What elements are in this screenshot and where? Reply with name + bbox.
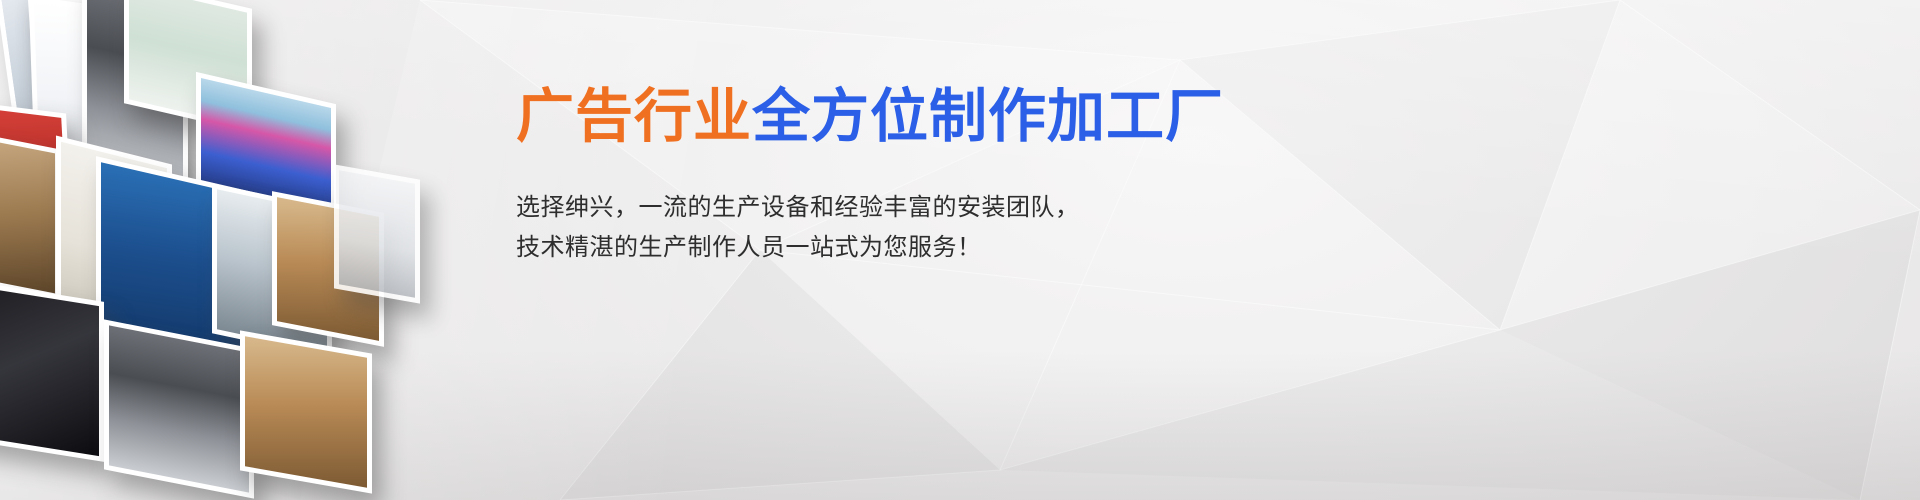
collage-photo [245,336,367,488]
collage-card-lightbox [334,164,420,303]
headline: 广告行业全方位制作加工厂 [516,86,1496,147]
promo-banner: 广告行业全方位制作加工厂 选择绅兴，一流的生产设备和经验丰富的安装团队， 技术精… [0,0,1920,500]
collage-photo [0,284,99,456]
collage-card-wood-panel [0,131,60,300]
collage-card-shop-sign-2 [104,319,254,498]
collage-photo [339,170,415,297]
collage-card-iphone-display [0,278,104,462]
subtitle-line-2: 技术精湛的生产制作人员一站式为您服务！ [516,227,1496,267]
collage-card-lightbox-2 [240,330,372,493]
photo-collage [0,0,444,500]
headline-blue-text: 全方位制作加工厂 [752,82,1224,150]
subtitle-block: 选择绅兴，一流的生产设备和经验丰富的安装团队， 技术精湛的生产制作人员一站式为您… [516,187,1496,267]
collage-photo [0,137,55,294]
collage-photo [109,325,249,492]
subtitle-line-1: 选择绅兴，一流的生产设备和经验丰富的安装团队， [516,187,1496,227]
banner-copy: 广告行业全方位制作加工厂 选择绅兴，一流的生产设备和经验丰富的安装团队， 技术精… [516,86,1496,267]
headline-orange-text: 广告行业 [516,82,752,150]
